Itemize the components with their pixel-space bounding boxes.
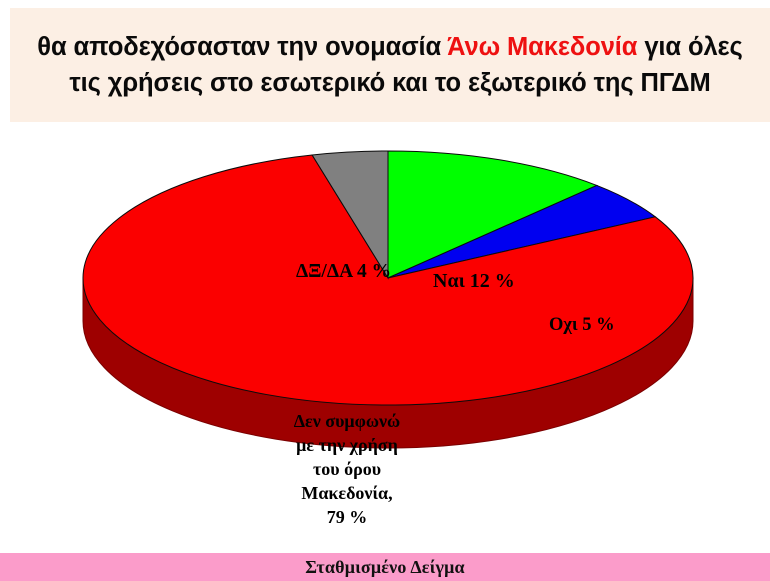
title-accent: Άνω Μακεδονία bbox=[447, 33, 637, 61]
slice-label-den-line-2: με την χρήση bbox=[254, 434, 440, 458]
slice-label-den-line-3: του όρου bbox=[254, 458, 440, 482]
title-prefix: θα αποδεχόσασταν την ονομασία bbox=[37, 33, 447, 61]
slice-label-den-line-4: Μακεδονία, bbox=[254, 482, 440, 506]
slice-label-den-line-5: 79 % bbox=[254, 506, 440, 530]
footer-label: Σταθμισμένο Δείγμα bbox=[305, 557, 465, 578]
pie-chart: ΔΞ/ΔΑ 4 % Ναι 12 % Οχι 5 % Δεν συμφωνώ μ… bbox=[0, 122, 770, 532]
slice-label-nai: Ναι 12 % bbox=[433, 270, 515, 294]
slice-label-den: Δεν συμφωνώ με την χρήση του όρου Μακεδο… bbox=[254, 410, 440, 530]
slice-label-oxi: Οχι 5 % bbox=[549, 315, 615, 337]
slice-label-dxda: ΔΞ/ΔΑ 4 % bbox=[296, 260, 391, 283]
page-title: θα αποδεχόσασταν την ονομασία Άνω Μακεδο… bbox=[24, 29, 756, 101]
title-banner: θα αποδεχόσασταν την ονομασία Άνω Μακεδο… bbox=[10, 8, 770, 122]
slice-label-den-line-1: Δεν συμφωνώ bbox=[254, 410, 440, 434]
footer-band: Σταθμισμένο Δείγμα bbox=[0, 553, 770, 581]
